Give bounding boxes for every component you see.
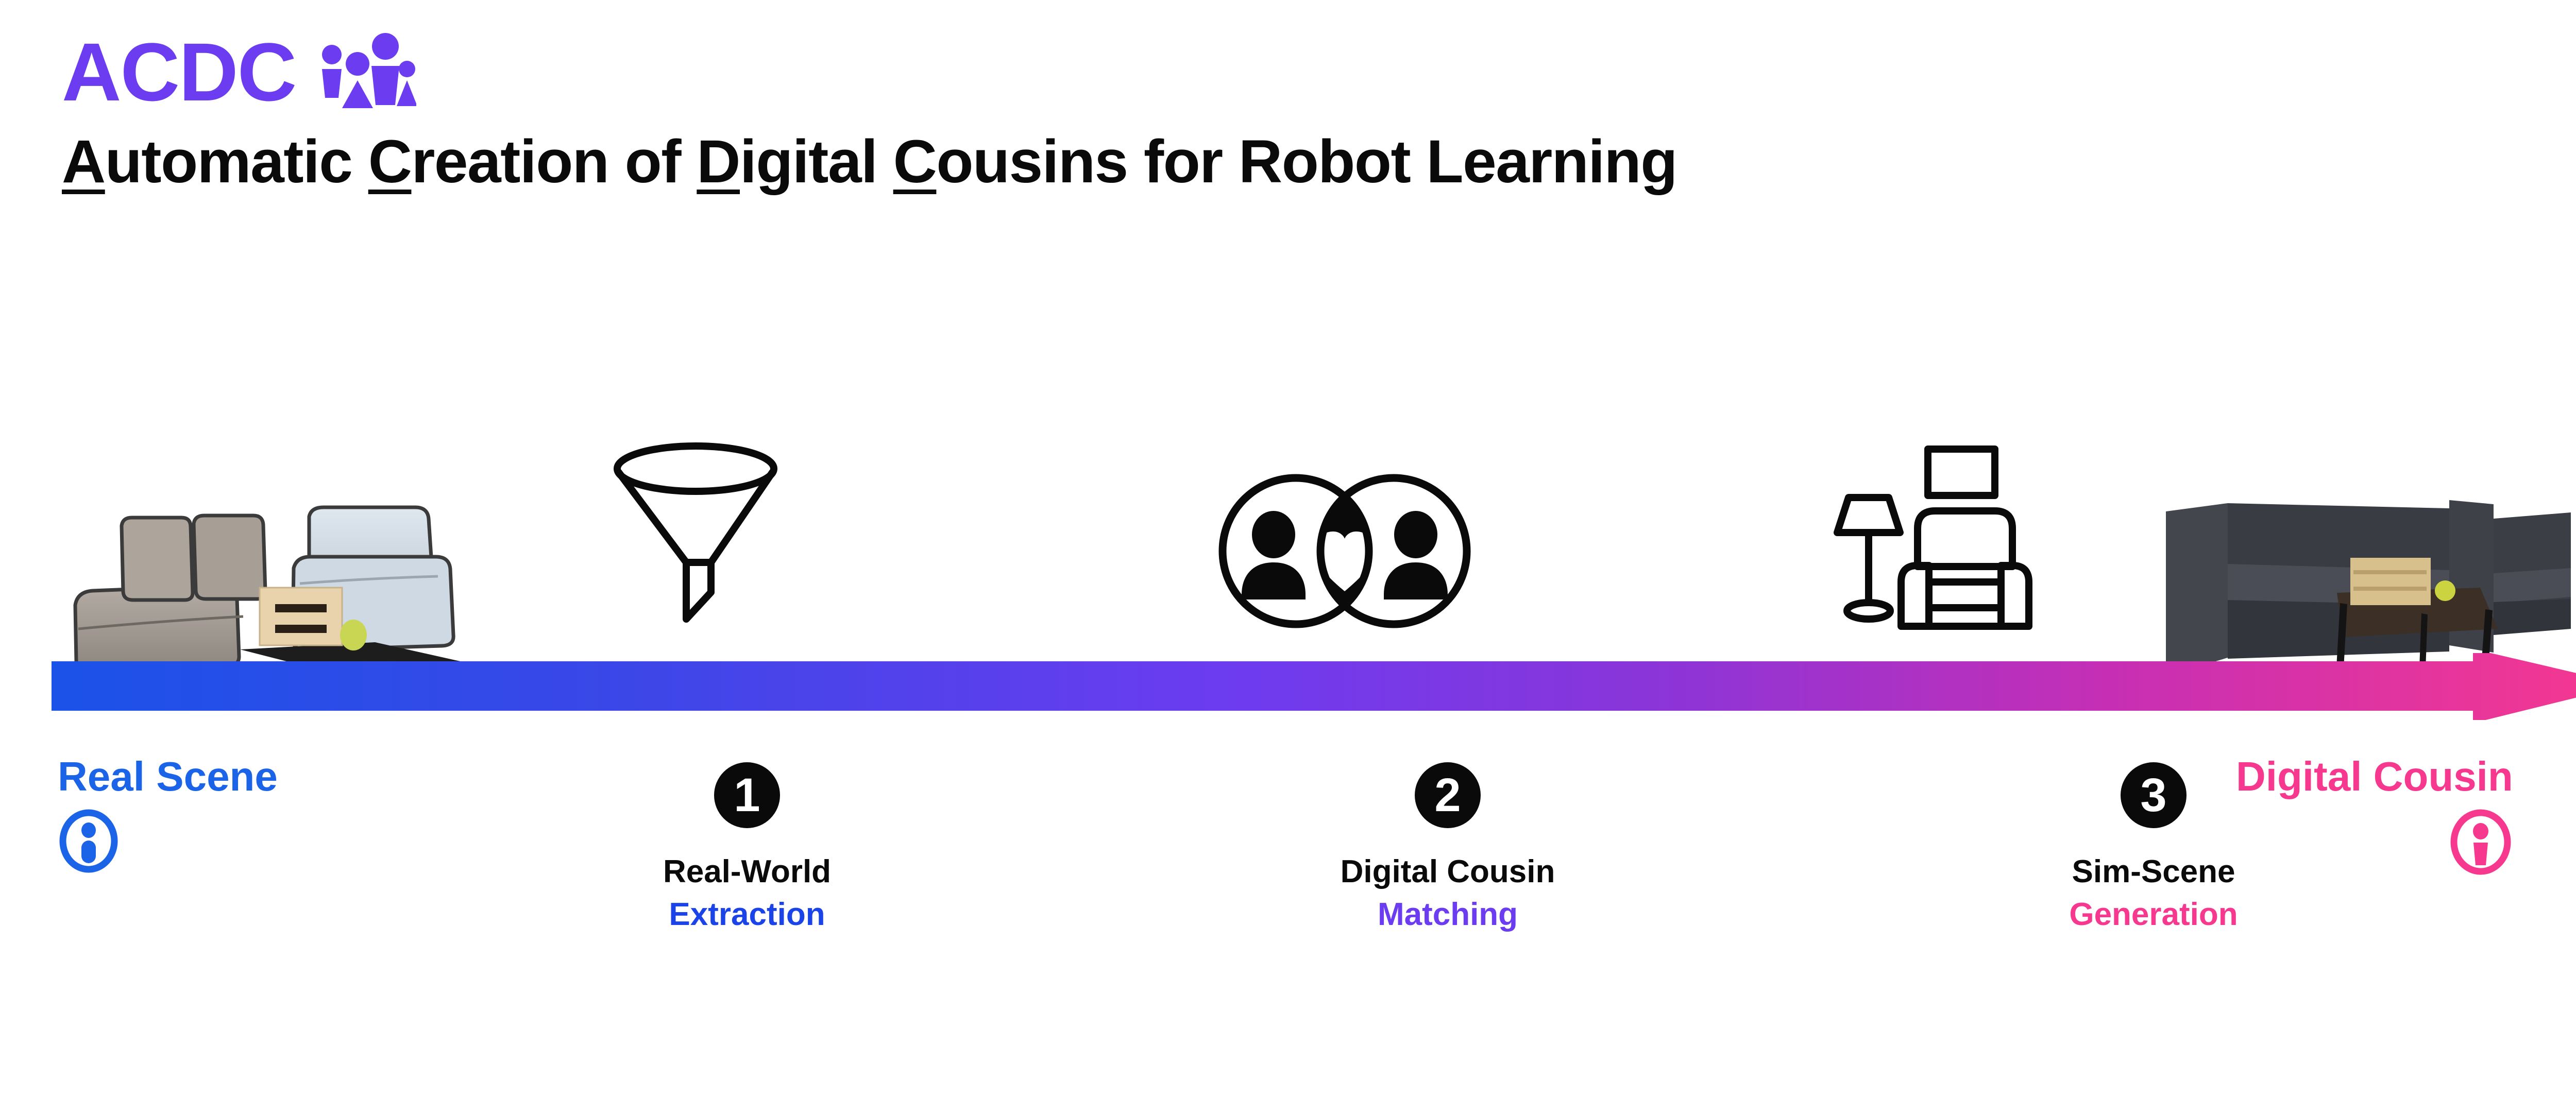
- pipeline-arrow: [52, 653, 2576, 720]
- step-3-line2: Generation: [1973, 896, 2334, 933]
- lamp-armchair-frame-icon: [1814, 427, 2045, 633]
- step-3-line1: Sim-Scene: [1973, 853, 2334, 890]
- person-in-circle-icon-blue: [58, 809, 278, 876]
- pipeline-step-2: 2 Digital Cousin Matching: [1267, 762, 1628, 933]
- step-2-line1: Digital Cousin: [1267, 853, 1628, 890]
- real-scene-label: Real Scene: [58, 756, 278, 797]
- pipeline: Real Scene Digital Cousin: [0, 0, 2576, 1097]
- step-1-line1: Real-World: [567, 853, 927, 890]
- venn-people-heart-icon: [1200, 474, 1489, 628]
- step-2-line2: Matching: [1267, 896, 1628, 933]
- pipeline-step-3: 3 Sim-Scene Generation: [1973, 762, 2334, 933]
- funnel-icon: [608, 438, 783, 628]
- step-1-line2: Extraction: [567, 896, 927, 933]
- real-scene-endpoint: Real Scene: [58, 756, 278, 876]
- pipeline-step-1: 1 Real-World Extraction: [567, 762, 927, 933]
- step-badge-3: 3: [2121, 762, 2187, 828]
- step-badge-2: 2: [1415, 762, 1481, 828]
- figure-canvas: ACDC: [0, 0, 2576, 1097]
- step-badge-1: 1: [714, 762, 780, 828]
